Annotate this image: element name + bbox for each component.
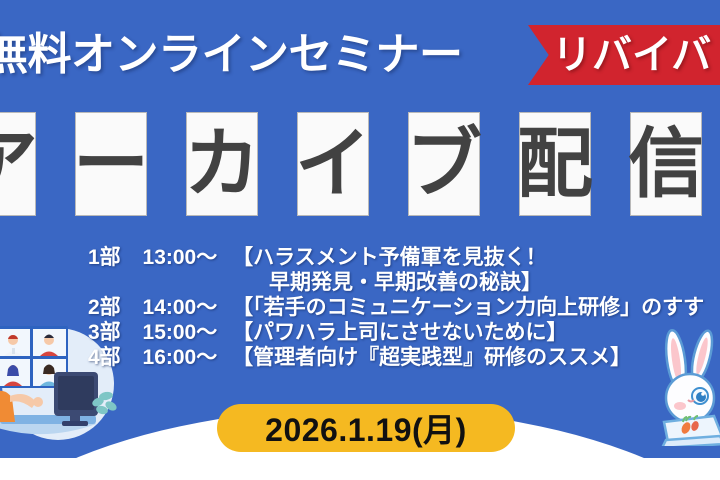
date-badge: 2026.1.19(月) [217,404,515,452]
headline-char: ー [73,126,149,202]
headline-box: ブ [408,112,480,216]
page-title: 無料オンラインセミナー [0,22,463,88]
session-part: 1部 [88,245,121,270]
session-time: 13:00〜 [127,245,218,270]
headline-char: ア [0,126,38,202]
session-title: 【「若手のコミュニケーション力向上研修」のすす [223,295,704,320]
banner-header: 無料オンラインセミナー リバイバ [0,22,720,88]
schedule-row: 2部 14:00〜 【「若手のコミュニケーション力向上研修」のすす [88,295,720,320]
headline-archive-broadcast: ア ー カ イ ブ 配 信 [0,112,720,216]
revival-ribbon-label: リバイバ [552,25,711,85]
session-part: 3部 [88,320,121,345]
headline-char: 信 [628,126,704,202]
session-time: 14:00〜 [127,295,218,320]
headline-box: カ [186,112,258,216]
schedule-row-continuation: 早期発見・早期改善の秘訣】 [88,270,720,295]
session-time: 16:00〜 [127,345,218,370]
headline-box: イ [297,112,369,216]
headline-box: ア [0,112,36,216]
headline-char: イ [295,126,371,202]
headline-box: 配 [519,112,591,216]
session-time: 15:00〜 [127,320,218,345]
webinar-banner: 無料オンラインセミナー リバイバ ア ー カ イ ブ 配 信 1部 13:00〜 [0,0,720,480]
session-title: 【ハラスメント予備軍を見抜く！ [223,245,547,270]
session-schedule-list: 1部 13:00〜 【ハラスメント予備軍を見抜く！ 早期発見・早期改善の秘訣】 … [88,245,720,370]
headline-box: ー [75,112,147,216]
schedule-row: 1部 13:00〜 【ハラスメント予備軍を見抜く！ [88,245,720,270]
date-badge-label: 2026.1.19(月) [265,405,467,451]
session-part: 2部 [88,295,121,320]
session-title: 【パワハラ上司にさせないために】 [223,320,567,345]
headline-char: 配 [517,126,593,202]
headline-char: カ [184,126,260,202]
headline-char: ブ [406,126,482,202]
headline-box: 信 [630,112,702,216]
session-part: 4部 [88,345,121,370]
session-title-continuation: 早期発見・早期改善の秘訣】 [260,270,542,295]
bottom-white-strip [0,458,720,480]
schedule-row: 4部 16:00〜 【管理者向け『超実践型』研修のススメ】 [88,345,720,370]
schedule-row: 3部 15:00〜 【パワハラ上司にさせないために】 [88,320,720,345]
session-title: 【管理者向け『超実践型』研修のススメ】 [223,345,631,370]
